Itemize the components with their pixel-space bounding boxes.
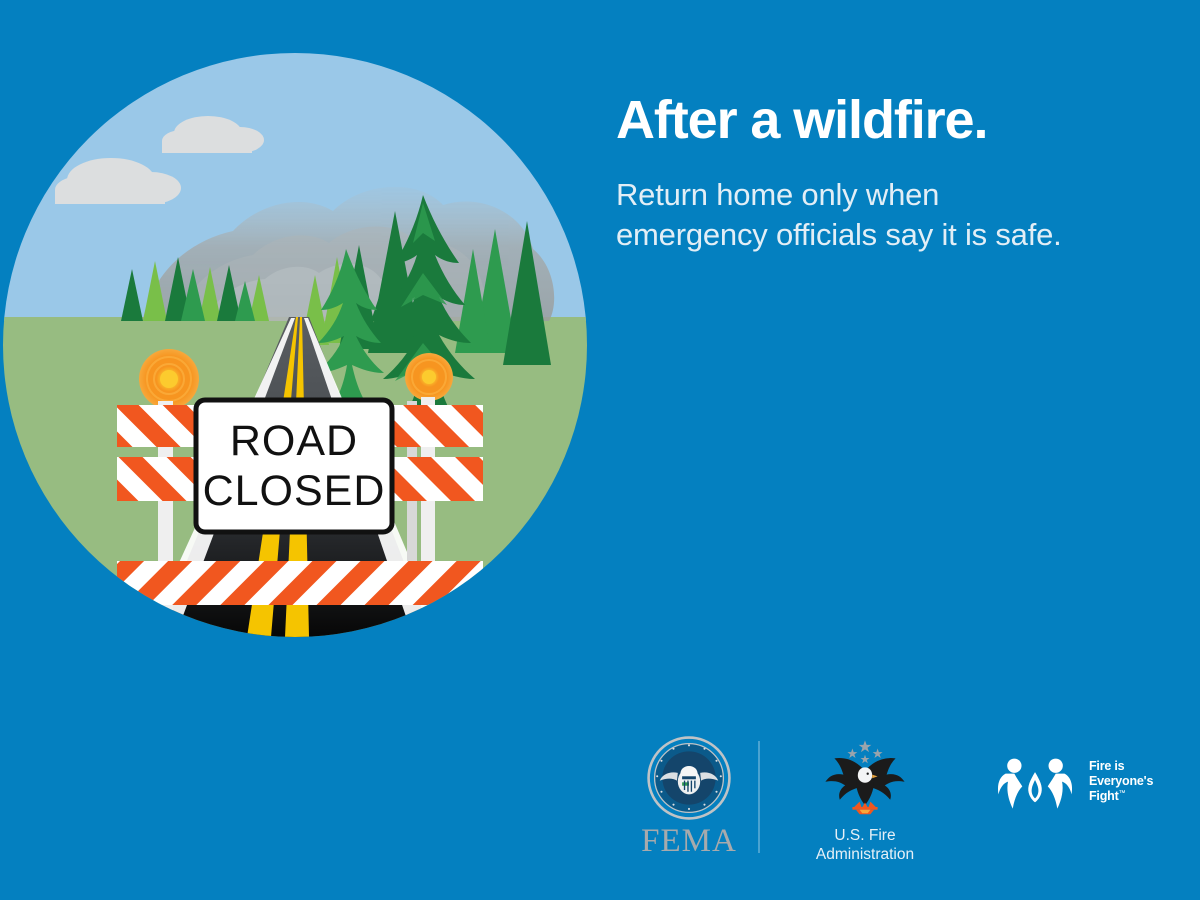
logo-divider [758, 741, 760, 853]
fief-line-1: Fire is [1089, 759, 1153, 774]
message-block: After a wildfire. Return home only when … [616, 92, 1076, 255]
fire-is-everyones-fight-logo: Fire is Everyone's Fight™ [995, 753, 1185, 823]
fief-line-2: Everyone's [1089, 774, 1153, 789]
usfa-eagle-icon [820, 735, 910, 825]
usfa-line-1: U.S. Fire [790, 827, 940, 846]
usfa-line-2: Administration [790, 846, 940, 865]
usfa-logo: U.S. Fire Administration [790, 735, 940, 865]
sign-line-1: ROAD [230, 417, 358, 465]
fire-is-everyones-fight-figures-icon [995, 753, 1083, 815]
usfa-wordmark: U.S. Fire Administration [790, 827, 940, 865]
road-closed-sign: ROAD CLOSED [196, 400, 392, 532]
barricade-board-bottom [117, 561, 483, 605]
page-subhead: Return home only when emergency official… [616, 175, 1076, 256]
poster-canvas: ROAD CLOSED After a wildfire. Return hom… [0, 0, 1200, 900]
sign-line-2: CLOSED [203, 467, 386, 515]
fema-wordmark: FEMA [620, 825, 758, 858]
fief-line-3: Fight™ [1089, 789, 1153, 804]
fire-is-everyones-fight-wordmark: Fire is Everyone's Fight™ [1089, 759, 1153, 803]
dhs-seal-icon [646, 735, 732, 821]
fema-logo: FEMA [620, 735, 758, 858]
footer-logos: FEMA [600, 735, 1200, 865]
page-title: After a wildfire. [616, 92, 1076, 149]
trademark-symbol: ™ [1119, 789, 1126, 796]
illustration-circle: ROAD CLOSED [3, 53, 587, 637]
